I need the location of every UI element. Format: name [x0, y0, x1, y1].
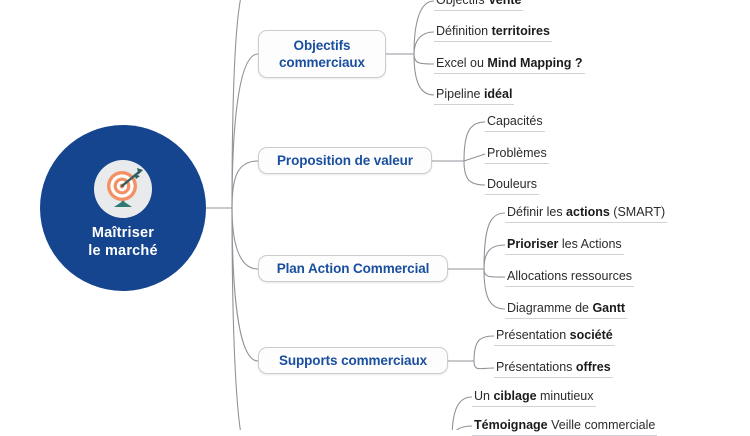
leaf-item[interactable]: Prioriser les Actions — [505, 236, 624, 255]
leaf-text-bold: actions — [566, 205, 610, 219]
leaf-item[interactable]: Définition territoires — [434, 23, 552, 42]
leaf-text-bold: offres — [576, 360, 611, 374]
leaf-item[interactable]: Définir les actions (SMART) — [505, 204, 667, 223]
leaf-item[interactable]: Objectifs Vente — [434, 0, 523, 11]
leaf-text-bold: ciblage — [493, 389, 536, 403]
connector-b1-leaf-4 — [414, 54, 434, 95]
leaf-text-bold: Mind Mapping ? — [487, 56, 582, 70]
leaf-item[interactable]: Douleurs — [485, 176, 539, 195]
connector-b5-leaf-1 — [452, 397, 472, 430]
target-dart-icon — [94, 160, 152, 218]
leaf-text: Objectifs — [436, 0, 488, 7]
leaf-item[interactable]: Présentations offres — [494, 359, 613, 378]
leaf-text: Excel ou — [436, 56, 487, 70]
connector-branch-5 — [232, 208, 246, 430]
branch-label: Proposition de valeur — [277, 152, 413, 169]
leaf-text: Présentations — [496, 360, 576, 374]
connector-b1-leaf-3 — [414, 54, 434, 64]
leaf-text-bold: Prioriser — [507, 237, 558, 251]
connector-b3-leaf-2 — [484, 245, 505, 269]
leaf-text-bold: idéal — [484, 87, 513, 101]
branch-node-plan-action-commercial[interactable]: Plan Action Commercial — [258, 255, 448, 282]
leaf-text: Capacités — [487, 114, 543, 128]
branch-label: Supports commerciaux — [279, 352, 427, 369]
connector-b3-leaf-4 — [484, 269, 505, 309]
connector-b3-leaf-1 — [484, 213, 505, 269]
connector-branch-3 — [232, 208, 258, 269]
central-node[interactable]: Maîtriser le marché — [40, 125, 206, 291]
leaf-text-bold: Vente — [488, 0, 521, 7]
leaf-text: (SMART) — [610, 205, 665, 219]
central-node-label: Maîtriser le marché — [88, 224, 158, 260]
branch-node-proposition-de-valeur[interactable]: Proposition de valeur — [258, 147, 432, 174]
leaf-text: Diagramme de — [507, 301, 592, 315]
connector-b4-leaf-1 — [474, 336, 494, 361]
leaf-text: Douleurs — [487, 177, 537, 191]
connector-branch-2 — [232, 161, 258, 208]
mindmap-canvas: Maîtriser le marché Objectifs commerciau… — [0, 0, 750, 430]
connector-b3-leaf-3 — [484, 269, 505, 277]
connector-b2-leaf-3 — [464, 161, 485, 185]
branch-label: Plan Action Commercial — [277, 260, 430, 277]
leaf-text: Pipeline — [436, 87, 484, 101]
leaf-item[interactable]: Excel ou Mind Mapping ? — [434, 55, 585, 74]
leaf-text: Un — [474, 389, 493, 403]
connector-branch-4 — [232, 208, 258, 361]
connector-branch-5b — [232, 0, 244, 208]
leaf-text: Problèmes — [487, 146, 547, 160]
leaf-item[interactable]: Pipeline idéal — [434, 86, 514, 105]
connector-b1-leaf-1 — [414, 1, 434, 54]
branch-label: Objectifs commerciaux — [279, 37, 365, 71]
leaf-text-bold: territoires — [492, 24, 550, 38]
connector-branch-1 — [232, 54, 258, 208]
connector-b1-leaf-2 — [414, 32, 434, 54]
leaf-item[interactable]: Témoignage Veille commerciale — [472, 417, 657, 436]
leaf-text-bold: société — [570, 328, 613, 342]
leaf-text-bold: Gantt — [592, 301, 625, 315]
leaf-text: Définir les — [507, 205, 566, 219]
leaf-item[interactable]: Capacités — [485, 113, 545, 132]
leaf-item[interactable]: Problèmes — [485, 145, 549, 164]
connector-b4-leaf-2 — [474, 361, 494, 369]
leaf-text: Définition — [436, 24, 492, 38]
connector-b2-leaf-1 — [464, 122, 485, 161]
branch-node-supports-commerciaux[interactable]: Supports commerciaux — [258, 347, 448, 374]
connector-b2-leaf-2 — [464, 154, 485, 161]
connector-b5-leaf-2 — [452, 426, 472, 430]
leaf-text: minutieux — [537, 389, 594, 403]
leaf-text: Allocations ressources — [507, 269, 632, 283]
leaf-text: les Actions — [558, 237, 621, 251]
leaf-item[interactable]: Présentation société — [494, 327, 615, 346]
branch-node-objectifs-commerciaux[interactable]: Objectifs commerciaux — [258, 30, 386, 78]
leaf-item[interactable]: Un ciblage minutieux — [472, 388, 596, 407]
leaf-item[interactable]: Diagramme de Gantt — [505, 300, 627, 319]
leaf-text: Présentation — [496, 328, 570, 342]
leaf-item[interactable]: Allocations ressources — [505, 268, 634, 287]
